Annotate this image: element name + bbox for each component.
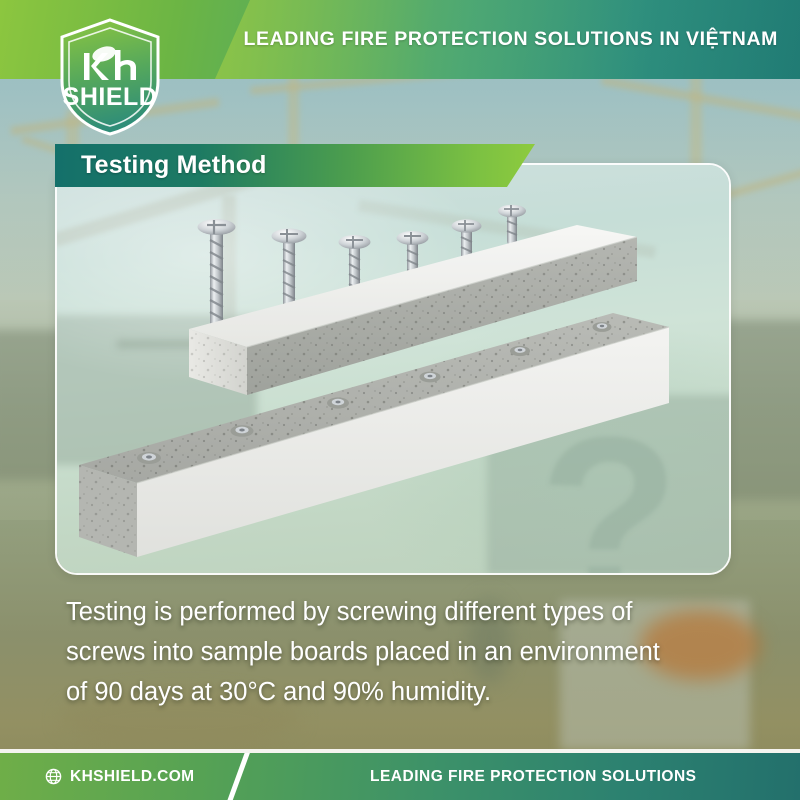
photo-panel: ? [55, 163, 731, 575]
logo-wordmark: SHIELD [63, 83, 158, 111]
flush-screw-5 [510, 346, 530, 356]
footer-tagline: LEADING FIRE PROTECTION SOLUTIONS [370, 753, 697, 800]
sample-boards-illustration [57, 165, 729, 573]
description-line-2: screws into sample boards placed in an e… [66, 632, 746, 672]
globe-icon [45, 768, 62, 785]
footer-website-label: KHSHIELD.COM [70, 768, 195, 786]
section-title-banner: Testing Method [55, 144, 535, 187]
flush-screw-4 [420, 372, 441, 383]
footer-website[interactable]: KHSHIELD.COM [45, 753, 195, 800]
footer-divider [226, 753, 251, 800]
page-title: Testing Method [81, 144, 267, 187]
description-line-1: Testing is performed by screwing differe… [66, 592, 746, 632]
brand-logo[interactable]: SHIELD [57, 17, 163, 137]
flush-screw-3 [327, 397, 349, 408]
shield-icon: SHIELD [57, 17, 163, 137]
header-tagline: LEADING FIRE PROTECTION SOLUTIONS IN VIỆ… [244, 0, 779, 79]
flush-screw-6 [593, 322, 612, 332]
footer-bar: KHSHIELD.COM LEADING FIRE PROTECTION SOL… [0, 753, 800, 800]
flush-screw-1 [137, 452, 161, 464]
flush-screw-2 [231, 425, 254, 437]
description-text: Testing is performed by screwing differe… [66, 592, 746, 712]
poster-canvas: LEADING FIRE PROTECTION SOLUTIONS IN VIỆ… [0, 0, 800, 800]
description-line-3: of 90 days at 30°C and 90% humidity. [66, 672, 746, 712]
